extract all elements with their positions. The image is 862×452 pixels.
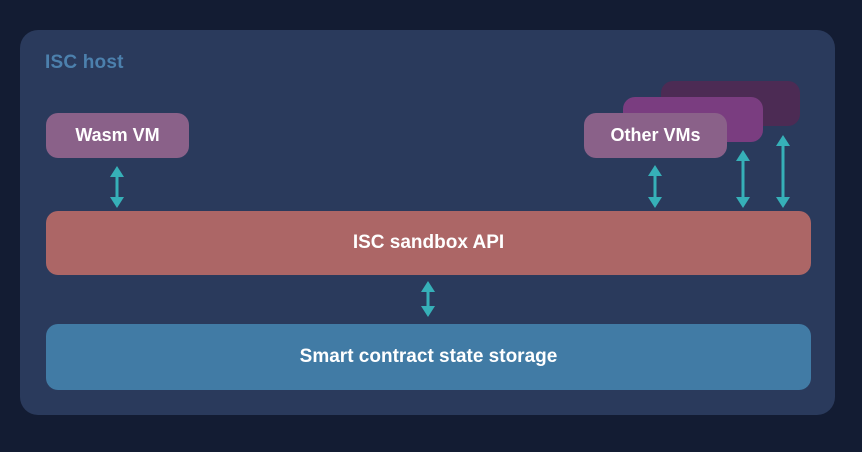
smart-contract-state-storage-bar[interactable]: Smart contract state storage xyxy=(46,324,811,390)
diagram-canvas: ISC host Wasm VM Other VMs xyxy=(0,0,862,452)
wasm-vm-box[interactable]: Wasm VM xyxy=(46,113,189,158)
isc-host-label: ISC host xyxy=(45,52,124,74)
arrow-othervm-mid-to-sandbox-icon xyxy=(734,150,752,208)
arrow-othervm-back-to-sandbox-icon xyxy=(774,135,792,208)
arrow-othervm-front-to-sandbox-icon xyxy=(646,165,664,208)
arrow-wasm-to-sandbox-icon xyxy=(108,166,126,208)
isc-sandbox-api-bar[interactable]: ISC sandbox API xyxy=(46,211,811,275)
other-vms-front-box[interactable]: Other VMs xyxy=(584,113,727,158)
arrow-sandbox-to-storage-icon xyxy=(419,281,437,317)
